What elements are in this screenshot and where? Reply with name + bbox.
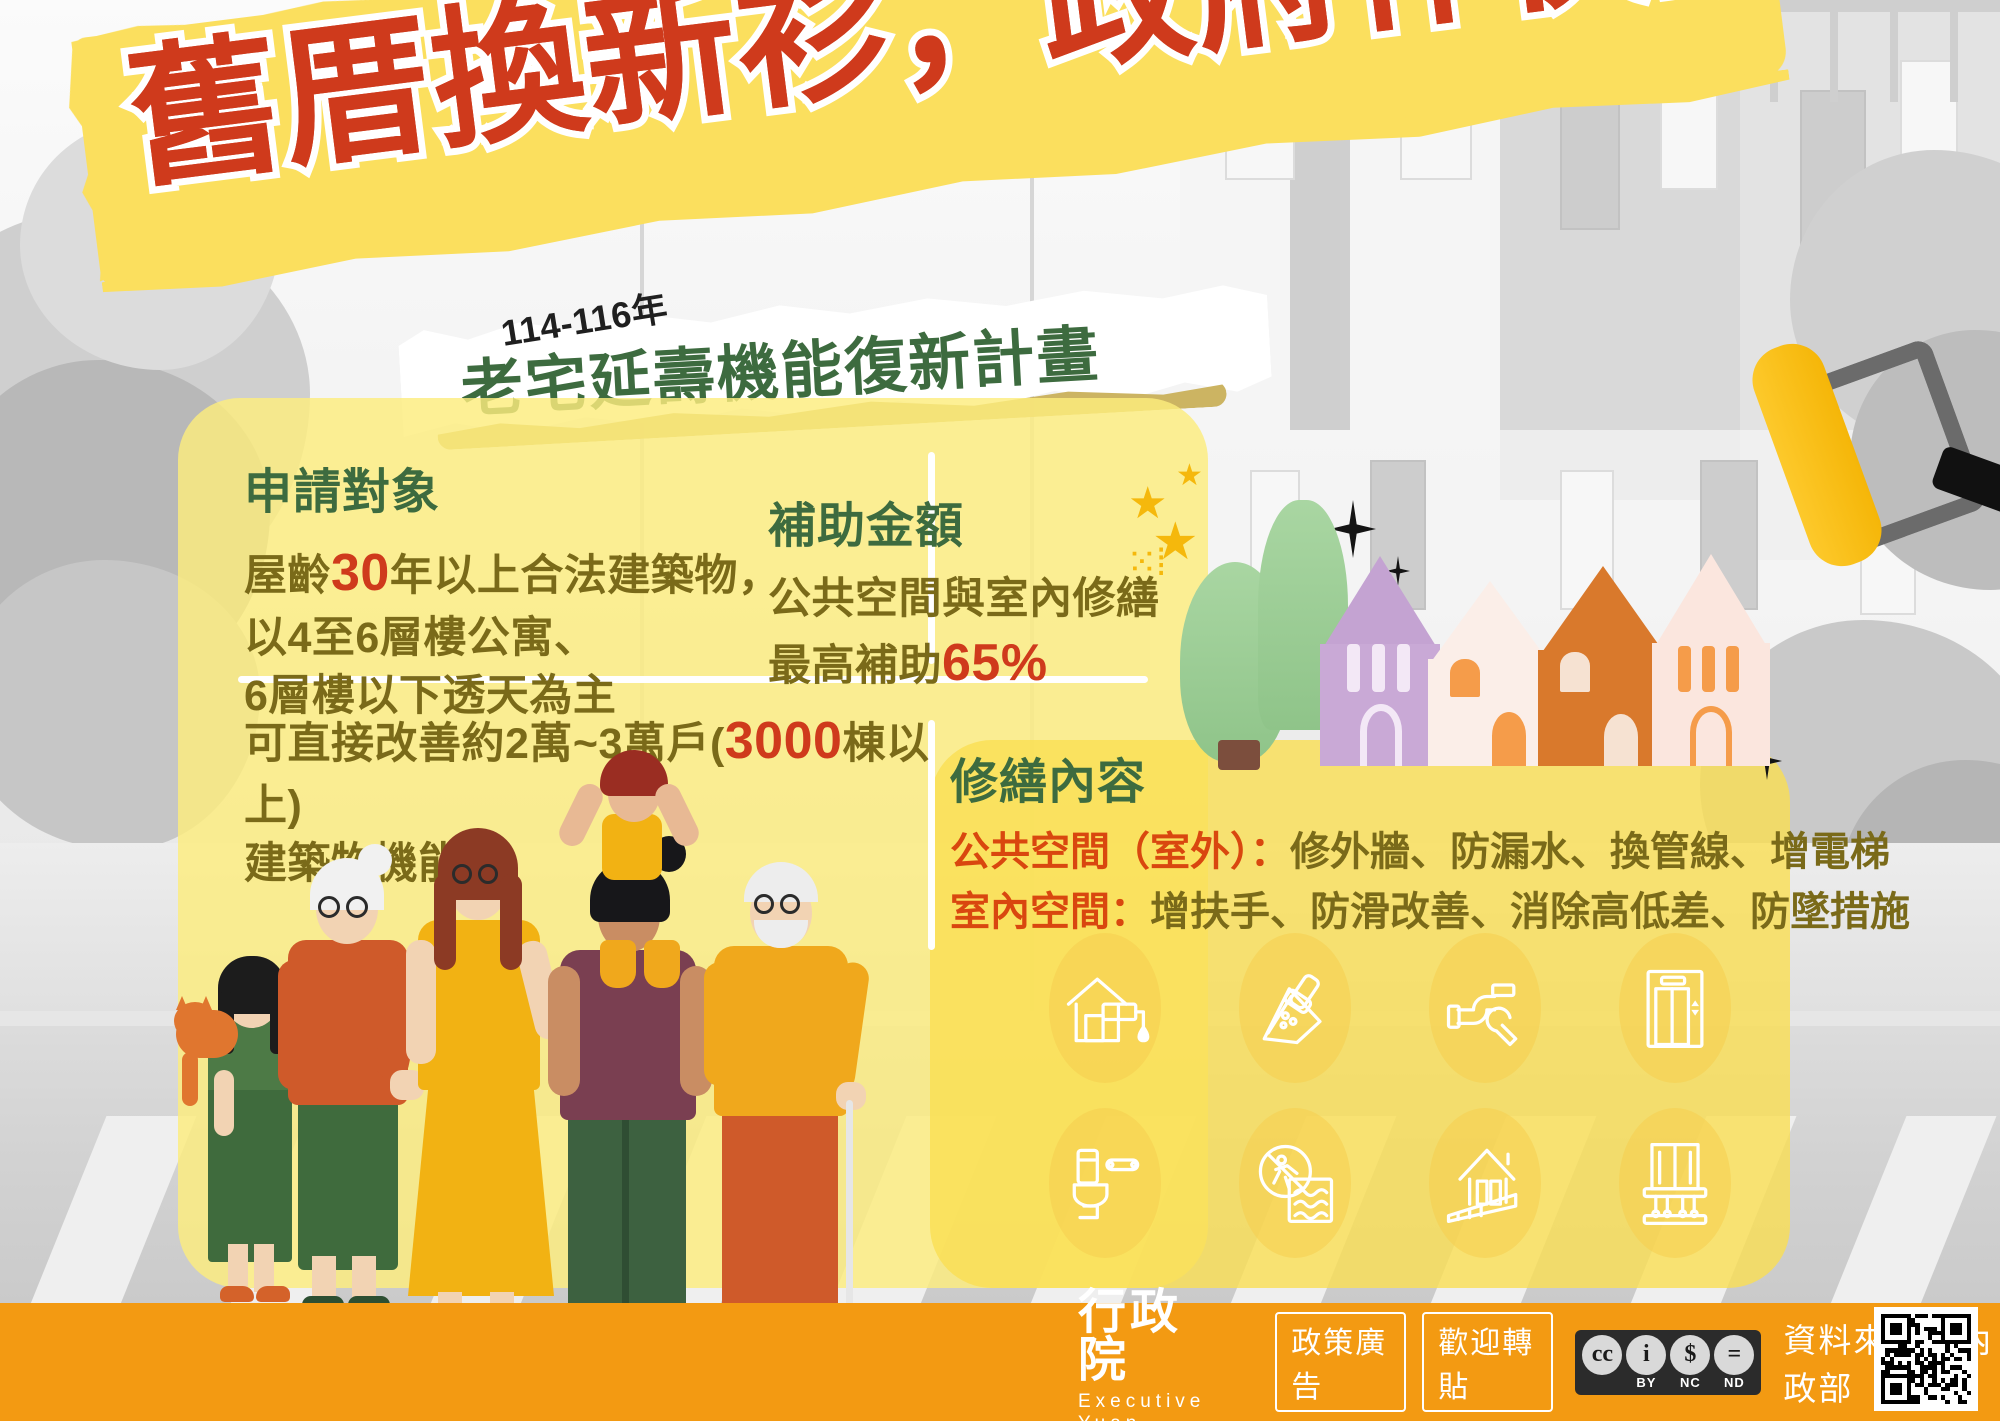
cc-nd-icon: = bbox=[1714, 1335, 1754, 1375]
repair-public-key: 公共空間（室外）： bbox=[950, 830, 1290, 874]
toy-tree-trunk bbox=[1218, 740, 1260, 770]
executive-yuan-logo: 行政院 Executive Yuan bbox=[1078, 1289, 1233, 1421]
cc-nc-label: NC bbox=[1680, 1375, 1701, 1390]
section-amount: 補助金額 公共空間與室內修繕 最高補助65% bbox=[768, 486, 1188, 699]
section-repair: 修繕內容 公共空間（室外）：修外牆、防漏水、換管線、增電梯 室內空間：增扶手、防… bbox=[950, 742, 1780, 942]
apply-line1-post: 年以上合法建築物， bbox=[390, 552, 782, 600]
balcony-railing-icon bbox=[1580, 1095, 1770, 1270]
toy-house-orange bbox=[1538, 566, 1668, 766]
toy-house-lavender bbox=[1320, 556, 1440, 766]
paint-roller-icon bbox=[1770, 280, 2000, 610]
toy-houses-illustration bbox=[1180, 500, 1780, 770]
repair-public-value: 修外牆、防漏水、換管線、增電梯 bbox=[1290, 830, 1890, 874]
walking-cane bbox=[846, 1100, 853, 1330]
cc-by-label: BY bbox=[1636, 1375, 1656, 1390]
toilet-grab-bar-icon bbox=[1010, 1095, 1200, 1270]
logo-english: Executive Yuan bbox=[1078, 1391, 1233, 1421]
elevator-icon bbox=[1580, 920, 1770, 1095]
creative-commons-badge: cc . i BY $ NC = ND bbox=[1575, 1330, 1761, 1395]
family-illustration bbox=[170, 770, 930, 1290]
badge-welcome-share: 歡迎轉貼 bbox=[1422, 1312, 1553, 1412]
apply-line1-pre: 屋齡 bbox=[244, 552, 331, 600]
ramp-house-icon bbox=[1390, 1095, 1580, 1270]
star-icon-small: ★ bbox=[1176, 458, 1203, 493]
toy-house-cream bbox=[1428, 581, 1552, 766]
amount-line2-pre: 最高補助 bbox=[768, 642, 942, 690]
pipe-wrench-icon bbox=[1390, 920, 1580, 1095]
cc-by-icon: i bbox=[1626, 1335, 1666, 1375]
cc-icon: cc bbox=[1582, 1335, 1622, 1375]
sparkle-lines: ⁙⁞ bbox=[1126, 540, 1164, 585]
amount-heading: 補助金額 bbox=[768, 486, 1188, 556]
waterproof-roof-icon bbox=[1200, 920, 1390, 1095]
poster-root: 舊厝換新衫，政府作伙擔！ 舊厝換新衫，政府作伙擔！ 老宅延壽機能復新計畫 114… bbox=[0, 0, 2000, 1421]
amount-emphasis: 65% bbox=[942, 634, 1048, 692]
footer-bar: 行政院 Executive Yuan 政策廣告 歡迎轉貼 cc . i BY $… bbox=[0, 1303, 2000, 1421]
repair-icon-grid bbox=[1010, 920, 1770, 1270]
badge-policy-ad: 政策廣告 bbox=[1275, 1312, 1406, 1412]
units-emphasis: 3000 bbox=[725, 712, 843, 770]
apply-line1-emphasis: 30 bbox=[331, 544, 390, 602]
logo-chinese: 行政院 bbox=[1078, 1289, 1233, 1385]
cc-nc-icon: $ bbox=[1670, 1335, 1710, 1375]
house-paint-roller-icon bbox=[1010, 920, 1200, 1095]
qr-code[interactable] bbox=[1874, 1307, 1978, 1411]
cc-nd-label: ND bbox=[1724, 1375, 1745, 1390]
amount-line1: 公共空間與室內修繕 bbox=[768, 575, 1160, 623]
repair-public-line: 公共空間（室外）：修外牆、防漏水、換管線、增電梯 bbox=[950, 822, 1780, 882]
toy-house-pink bbox=[1652, 554, 1770, 766]
apply-line2: 以4至6層樓公寓、 bbox=[244, 614, 597, 662]
anti-slip-floor-icon bbox=[1200, 1095, 1390, 1270]
